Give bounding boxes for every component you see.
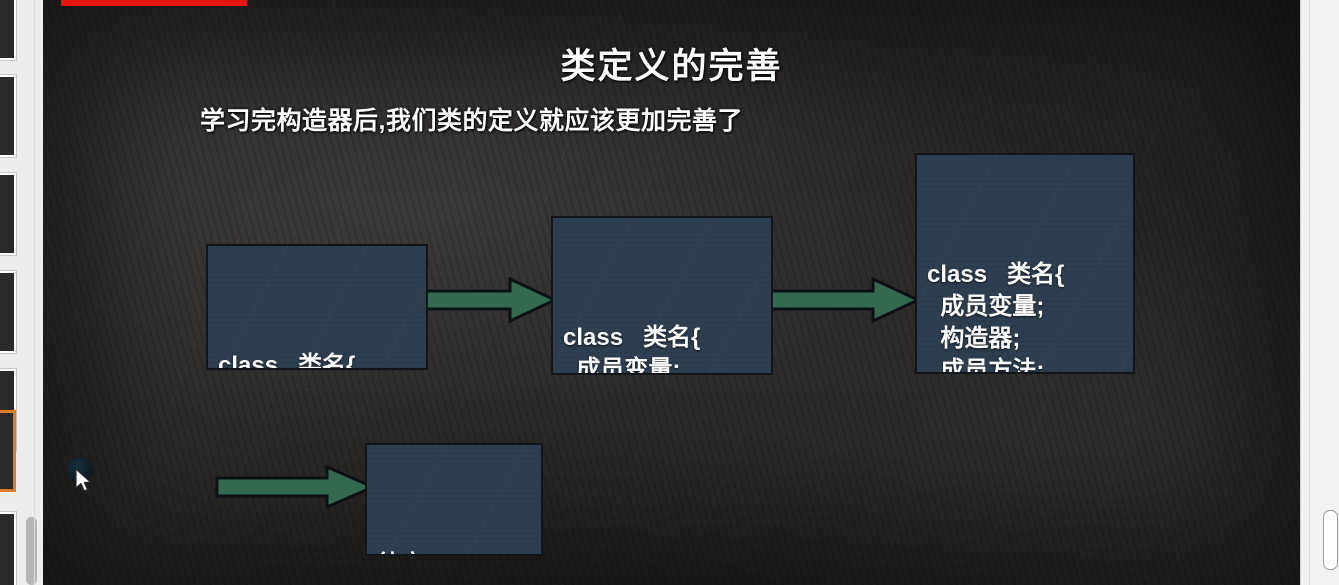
arrow-stage2-to-stage3: [769, 275, 921, 325]
slide-title: 类定义的完善: [43, 38, 1300, 89]
class-definition-stage-2[interactable]: class 类名{ 成员变量; 成员方法; }: [551, 216, 773, 375]
right-panel-scrollbar[interactable]: [1323, 510, 1338, 570]
slide-thumbnail-panel[interactable]: [0, 0, 44, 585]
right-side-panel: [1300, 0, 1339, 585]
slide-thumbnail-6-selected[interactable]: [0, 410, 16, 492]
mouse-pointer-icon: [75, 468, 93, 494]
slide-thumbnail-4[interactable]: [0, 271, 16, 353]
slide-thumbnail-3[interactable]: [0, 173, 16, 255]
slide-thumbnail-1[interactable]: [0, 0, 16, 60]
box-texture: [367, 445, 541, 554]
thumbnail-panel-scrollbar[interactable]: [26, 517, 37, 585]
presentation-window: 类定义的完善 学习完构造器后,我们类的定义就应该更加完善了 class 类名{ …: [0, 0, 1339, 585]
panel-divider: [1309, 0, 1310, 585]
class-definition-stage-1[interactable]: class 类名{ 成员变量; }: [206, 244, 428, 370]
slide-canvas[interactable]: 类定义的完善 学习完构造器后,我们类的定义就应该更加完善了 class 类名{ …: [43, 0, 1300, 585]
slide-subtitle: 学习完构造器后,我们类的定义就应该更加完善了: [200, 101, 743, 137]
class-definition-stage-3[interactable]: class 类名{ 成员变量; 构造器; 成员方法; }: [915, 153, 1135, 374]
red-accent-bar: [61, 0, 247, 6]
class-definition-pending-text: 待定..: [377, 549, 541, 556]
class-definition-stage-2-text: class 类名{ 成员变量; 成员方法; }: [563, 322, 771, 375]
class-definition-stage-1-text: class 类名{ 成员变量; }: [218, 350, 426, 370]
slide-thumbnail-2[interactable]: [0, 75, 16, 157]
arrow-to-pending: [215, 464, 377, 510]
class-definition-stage-3-text: class 类名{ 成员变量; 构造器; 成员方法; }: [927, 259, 1133, 374]
slide-thumbnail-7[interactable]: [0, 512, 16, 585]
arrow-stage1-to-stage2: [424, 275, 558, 325]
class-definition-pending[interactable]: 待定..: [365, 443, 543, 556]
